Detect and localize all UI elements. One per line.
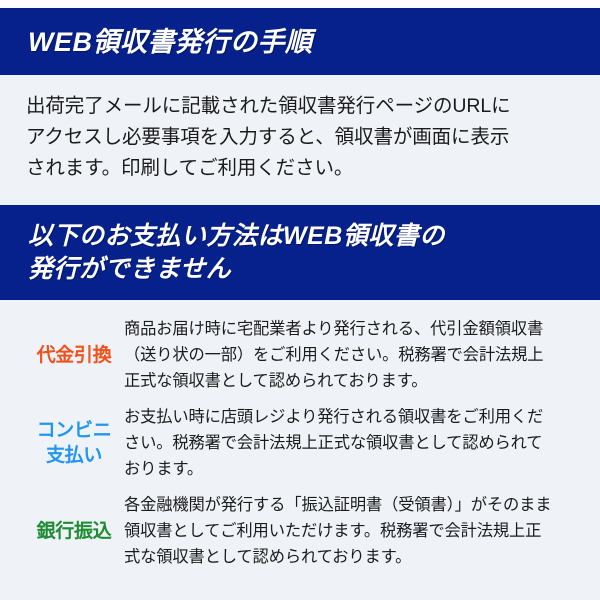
- payment-method-desc-cell: 各金融機関が発行する「振込証明書（受領書）」がそのまま 領収書としてご利用いただ…: [122, 492, 586, 570]
- payment-method-description-cash-on-delivery: 商品お届け時に宅配業者より発行される、代引金額領収書 （送り状の一部）をご利用く…: [124, 316, 586, 394]
- payment-method-label-cell: コンビニ 支払い: [0, 418, 122, 468]
- payment-method-label-cell: 銀行振込: [0, 519, 122, 544]
- payment-method-row: コンビニ 支払い お支払い時に店頭レジより発行される領収書をご利用くだ さい。税…: [0, 404, 600, 482]
- top-gutter: [0, 0, 600, 8]
- payment-method-desc-cell: 商品お届け時に宅配業者より発行される、代引金額領収書 （送り状の一部）をご利用く…: [122, 316, 586, 394]
- title-banner: WEB領収書発行の手順: [0, 8, 600, 75]
- notice-banner-inner: 以下のお支払い方法はWEB領収書の 発行ができません: [0, 220, 445, 286]
- payment-method-label-cell: 代金引換: [0, 343, 122, 368]
- intro-paragraph: 出荷完了メールに記載された領収書発行ページのURLに アクセスし必要事項を入力す…: [26, 91, 578, 184]
- payment-method-row: 銀行振込 各金融機関が発行する「振込証明書（受領書）」がそのまま 領収書としてご…: [0, 492, 600, 570]
- notice-banner: 以下のお支払い方法はWEB領収書の 発行ができません: [0, 205, 600, 300]
- payment-method-description-bank-transfer: 各金融機関が発行する「振込証明書（受領書）」がそのまま 領収書としてご利用いただ…: [124, 492, 586, 570]
- notice-heading: 以下のお支払い方法はWEB領収書の 発行ができません: [28, 220, 445, 286]
- page-title: WEB領収書発行の手順: [28, 27, 313, 57]
- title-banner-inner: WEB領収書発行の手順: [0, 27, 313, 57]
- payment-method-label-convenience-store: コンビニ 支払い: [37, 418, 112, 468]
- payment-method-description-convenience-store: お支払い時に店頭レジより発行される領収書をご利用くだ さい。税務署で会計法規上正…: [124, 404, 586, 482]
- notice-spacer: [0, 198, 600, 205]
- payment-method-label-bank-transfer: 銀行振込: [37, 519, 112, 544]
- receipt-info-page: WEB領収書発行の手順 出荷完了メールに記載された領収書発行ページのURLに ア…: [0, 0, 600, 600]
- payment-method-row: 代金引換 商品お届け時に宅配業者より発行される、代引金額領収書 （送り状の一部）…: [0, 316, 600, 394]
- intro-block: 出荷完了メールに記載された領収書発行ページのURLに アクセスし必要事項を入力す…: [0, 75, 600, 198]
- payment-method-label-cash-on-delivery: 代金引換: [37, 343, 112, 368]
- payment-methods-list: 代金引換 商品お届け時に宅配業者より発行される、代引金額領収書 （送り状の一部）…: [0, 300, 600, 570]
- payment-method-desc-cell: お支払い時に店頭レジより発行される領収書をご利用くだ さい。税務署で会計法規上正…: [122, 404, 586, 482]
